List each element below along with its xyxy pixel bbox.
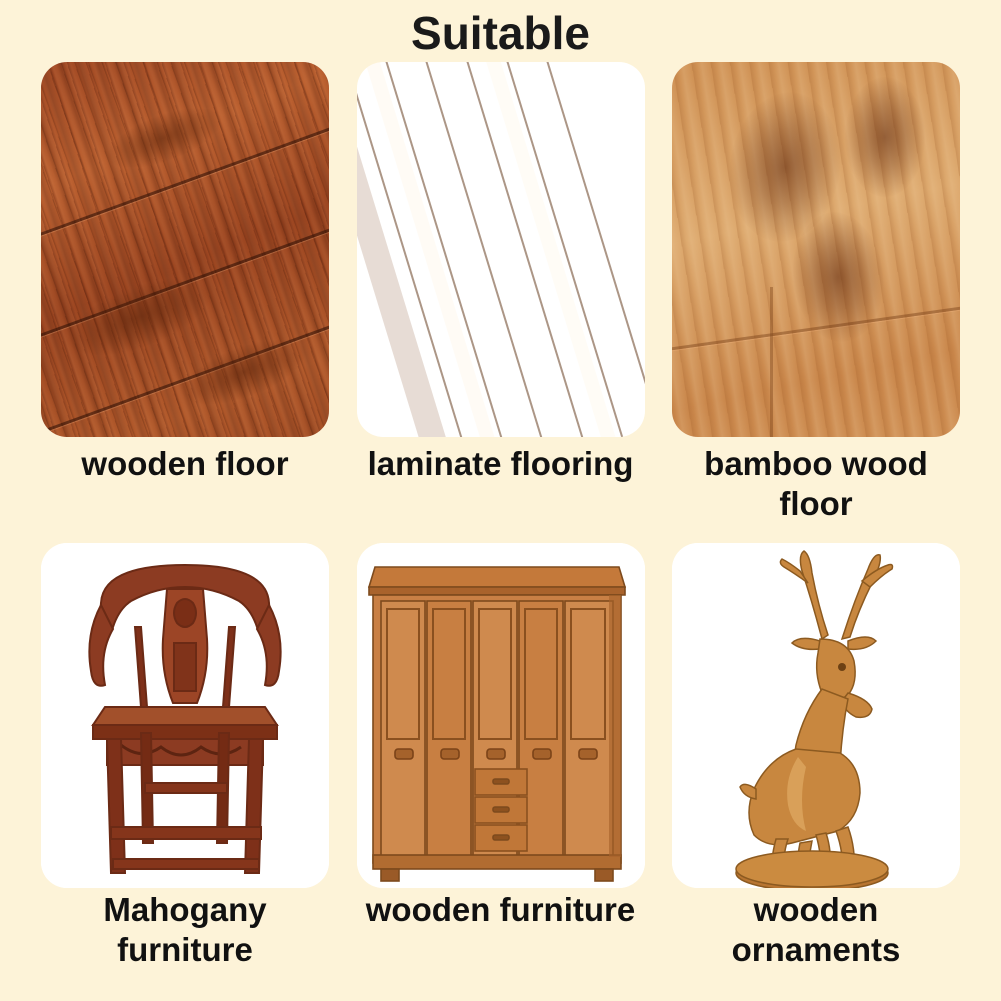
- item-caption: laminate flooring: [351, 444, 651, 484]
- wooden-ornaments-image: [672, 543, 960, 888]
- page-title: Suitable: [0, 6, 1001, 60]
- wooden-furniture-image: [357, 543, 645, 888]
- chinese-armchair-illustration: [41, 543, 329, 888]
- grid-row-1: wooden floor laminate flooring: [0, 62, 1001, 525]
- item-caption: Mahogany furniture: [35, 890, 335, 971]
- item-caption: bamboo wood floor: [666, 444, 966, 525]
- plank-seam: [770, 287, 773, 437]
- item-caption: wooden furniture: [351, 890, 651, 930]
- bamboo-wood-floor-image: [672, 62, 960, 437]
- carved-deer-illustration: [672, 543, 960, 888]
- item-bamboo-wood-floor[interactable]: bamboo wood floor: [671, 62, 961, 525]
- mahogany-furniture-image: [41, 543, 329, 888]
- item-wooden-floor[interactable]: wooden floor: [40, 62, 330, 525]
- item-caption: wooden floor: [35, 444, 335, 484]
- item-wooden-furniture[interactable]: wooden furniture: [356, 543, 646, 971]
- suitable-surfaces-infographic: Suitable wooden floor: [0, 0, 1001, 1001]
- golden-laminate-texture: [357, 62, 645, 437]
- items-grid: wooden floor laminate flooring: [0, 62, 1001, 970]
- item-caption: wooden ornaments: [666, 890, 966, 971]
- item-wooden-ornaments[interactable]: wooden ornaments: [671, 543, 961, 971]
- wooden-wardrobe-illustration: [357, 543, 645, 888]
- laminate-flooring-image: [357, 62, 645, 437]
- wood-knot: [845, 77, 925, 197]
- grid-row-2: Mahogany furniture: [0, 543, 1001, 971]
- item-laminate-flooring[interactable]: laminate flooring: [356, 62, 646, 525]
- item-mahogany-furniture[interactable]: Mahogany furniture: [40, 543, 330, 971]
- wooden-floor-image: [41, 62, 329, 437]
